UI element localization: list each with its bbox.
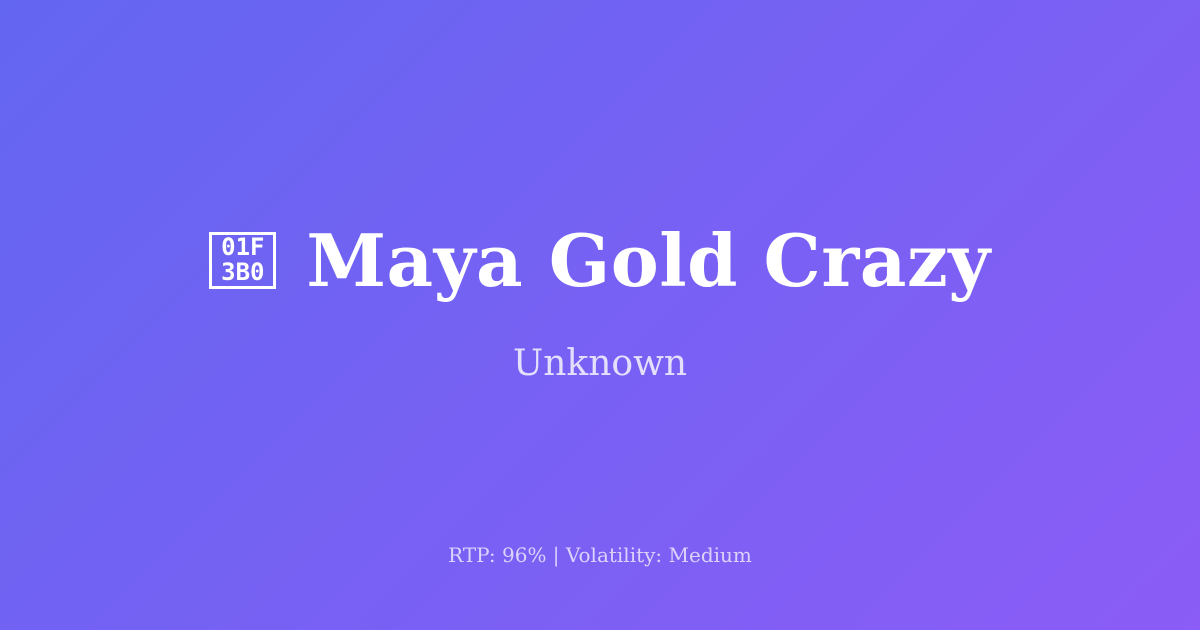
- tofu-codepoint-line-1: 01F: [221, 235, 264, 260]
- og-preview-card: 01F 3B0 Maya Gold Crazy Unknown RTP: 96%…: [0, 0, 1200, 630]
- title-row: 01F 3B0 Maya Gold Crazy: [209, 223, 990, 299]
- provider-name: Unknown: [513, 342, 687, 385]
- game-title: Maya Gold Crazy: [306, 223, 990, 299]
- hero-block: 01F 3B0 Maya Gold Crazy Unknown: [0, 0, 1200, 630]
- game-meta-line: RTP: 96% | Volatility: Medium: [0, 542, 1200, 568]
- slot-machine-emoji-icon: 01F 3B0: [209, 232, 276, 289]
- tofu-codepoint-line-2: 3B0: [221, 260, 264, 285]
